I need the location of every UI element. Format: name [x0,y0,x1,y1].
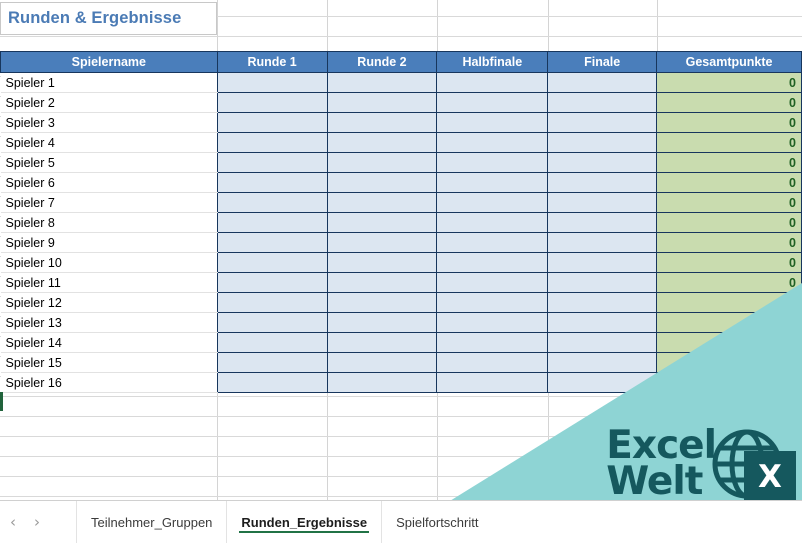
cell-r1[interactable] [217,313,327,333]
cell-total[interactable]: 0 [657,173,802,193]
cell-r1[interactable] [217,133,327,153]
table-row: Spieler 100 [1,253,802,273]
cell-r1[interactable] [217,333,327,353]
row-gridline [0,456,802,457]
column-header-runde-2[interactable]: Runde 2 [327,52,437,73]
cell-name[interactable]: Spieler 16 [1,373,218,393]
cell-name[interactable]: Spieler 10 [1,253,218,273]
cell-r2[interactable] [327,273,437,293]
column-header-finale[interactable]: Finale [548,52,657,73]
cell-r1[interactable] [217,73,327,93]
row-gridline [0,36,802,37]
cell-name[interactable]: Spieler 14 [1,333,218,353]
table-row: Spieler 20 [1,93,802,113]
table-body: Spieler 10Spieler 20Spieler 30Spieler 40… [1,73,802,393]
cell-fin[interactable] [548,293,657,313]
cell-hf[interactable] [437,293,548,313]
cell-r1[interactable] [217,93,327,113]
column-header-runde-1[interactable]: Runde 1 [217,52,327,73]
sheet-tab-teilnehmer-gruppen[interactable]: Teilnehmer_Gruppen [76,501,226,543]
cell-r2[interactable] [327,133,437,153]
cell-fin[interactable] [548,233,657,253]
cell-total[interactable]: 0 [657,373,802,393]
cell-hf[interactable] [437,233,548,253]
worksheet-title-cell[interactable]: Runden & Ergebnisse [0,2,217,35]
table-row: Spieler 150 [1,353,802,373]
cell-name[interactable]: Spieler 8 [1,213,218,233]
table-row: Spieler 10 [1,73,802,93]
sheet-tab-spielfortschritt[interactable]: Spielfortschritt [381,501,492,543]
cell-fin[interactable] [548,313,657,333]
cell-total[interactable]: 0 [657,313,802,333]
cell-r2[interactable] [327,93,437,113]
cell-name[interactable]: Spieler 13 [1,313,218,333]
cell-total[interactable]: 0 [657,193,802,213]
cell-name[interactable]: Spieler 9 [1,233,218,253]
cell-r2[interactable] [327,113,437,133]
results-table: Spielername Runde 1 Runde 2 Halbfinale F… [0,51,802,393]
cell-hf[interactable] [437,273,548,293]
cell-name[interactable]: Spieler 2 [1,93,218,113]
cell-total[interactable]: 0 [657,353,802,373]
cell-hf[interactable] [437,173,548,193]
cell-r1[interactable] [217,253,327,273]
cell-r1[interactable] [217,233,327,253]
table-header-row: Spielername Runde 1 Runde 2 Halbfinale F… [1,52,802,73]
cell-r2[interactable] [327,233,437,253]
cell-total[interactable]: 0 [657,293,802,313]
cell-hf[interactable] [437,353,548,373]
table-row: Spieler 90 [1,233,802,253]
cell-total[interactable]: 0 [657,133,802,153]
table-row: Spieler 140 [1,333,802,353]
cell-total[interactable]: 0 [657,73,802,93]
column-header-gesamtpunkte[interactable]: Gesamtpunkte [657,52,802,73]
table-row: Spieler 70 [1,193,802,213]
cell-fin[interactable] [548,333,657,353]
cell-hf[interactable] [437,153,548,173]
cell-fin[interactable] [548,353,657,373]
cell-fin[interactable] [548,373,657,393]
table-row: Spieler 130 [1,313,802,333]
cell-total[interactable]: 0 [657,233,802,253]
cell-fin[interactable] [548,93,657,113]
sheet-tab-bar: ‹ › Teilnehmer_GruppenRunden_ErgebnisseS… [0,500,802,543]
cell-name[interactable]: Spieler 15 [1,353,218,373]
cell-fin[interactable] [548,213,657,233]
cell-hf[interactable] [437,313,548,333]
cell-hf[interactable] [437,133,548,153]
cell-total[interactable]: 0 [657,333,802,353]
cell-fin[interactable] [548,133,657,153]
cell-r1[interactable] [217,273,327,293]
table-row: Spieler 40 [1,133,802,153]
cell-hf[interactable] [437,253,548,273]
cell-r1[interactable] [217,373,327,393]
cell-name[interactable]: Spieler 4 [1,133,218,153]
prev-sheet-icon[interactable]: ‹ [10,513,16,531]
cell-r2[interactable] [327,353,437,373]
cell-r2[interactable] [327,73,437,93]
row-gridline [0,476,802,477]
cell-hf[interactable] [437,373,548,393]
cell-total[interactable]: 0 [657,273,802,293]
table-row: Spieler 120 [1,293,802,313]
page-title: Runden & Ergebnisse [8,9,181,28]
next-sheet-icon[interactable]: › [34,513,40,531]
table-row: Spieler 110 [1,273,802,293]
cell-total[interactable]: 0 [657,153,802,173]
cell-hf[interactable] [437,213,548,233]
cell-hf[interactable] [437,193,548,213]
cell-r1[interactable] [217,293,327,313]
cell-r1[interactable] [217,213,327,233]
cell-fin[interactable] [548,73,657,93]
active-cell-marker [0,392,3,411]
cell-hf[interactable] [437,73,548,93]
cell-fin[interactable] [548,113,657,133]
table-row: Spieler 60 [1,173,802,193]
column-header-spielername[interactable]: Spielername [1,52,218,73]
cell-total[interactable]: 0 [657,113,802,133]
cell-fin[interactable] [548,273,657,293]
cell-r2[interactable] [327,193,437,213]
cell-r1[interactable] [217,193,327,213]
cell-total[interactable]: 0 [657,213,802,233]
cell-r2[interactable] [327,333,437,353]
row-gridline [0,396,802,397]
cell-r1[interactable] [217,353,327,373]
cell-fin[interactable] [548,253,657,273]
sheet-tab-runden-ergebnisse[interactable]: Runden_Ergebnisse [226,501,381,543]
cell-total[interactable]: 0 [657,93,802,113]
cell-name[interactable]: Spieler 6 [1,173,218,193]
cell-name[interactable]: Spieler 1 [1,73,218,93]
excel-worksheet-window: Runden & Ergebnisse Spielername Runde 1 … [0,0,802,543]
sheet-tabs: Teilnehmer_GruppenRunden_ErgebnisseSpiel… [76,501,492,543]
cell-r2[interactable] [327,213,437,233]
cell-r2[interactable] [327,253,437,273]
column-header-halbfinale[interactable]: Halbfinale [437,52,548,73]
cell-fin[interactable] [548,193,657,213]
table-row: Spieler 50 [1,153,802,173]
cell-r2[interactable] [327,373,437,393]
cell-hf[interactable] [437,333,548,353]
row-gridline [0,416,802,417]
table-row: Spieler 160 [1,373,802,393]
cell-r1[interactable] [217,173,327,193]
cell-name[interactable]: Spieler 12 [1,293,218,313]
cell-name[interactable]: Spieler 5 [1,153,218,173]
cell-r1[interactable] [217,153,327,173]
row-gridline [0,436,802,437]
table-row: Spieler 80 [1,213,802,233]
sheet-nav-arrows: ‹ › [0,513,76,531]
cell-r2[interactable] [327,173,437,193]
cell-hf[interactable] [437,113,548,133]
cell-r2[interactable] [327,153,437,173]
cell-fin[interactable] [548,173,657,193]
row-gridline [0,496,802,497]
cell-name[interactable]: Spieler 11 [1,273,218,293]
cell-name[interactable]: Spieler 3 [1,113,218,133]
cell-hf[interactable] [437,93,548,113]
cell-fin[interactable] [548,153,657,173]
cell-r2[interactable] [327,293,437,313]
table-row: Spieler 30 [1,113,802,133]
cell-name[interactable]: Spieler 7 [1,193,218,213]
cell-total[interactable]: 0 [657,253,802,273]
cell-r1[interactable] [217,113,327,133]
cell-r2[interactable] [327,313,437,333]
